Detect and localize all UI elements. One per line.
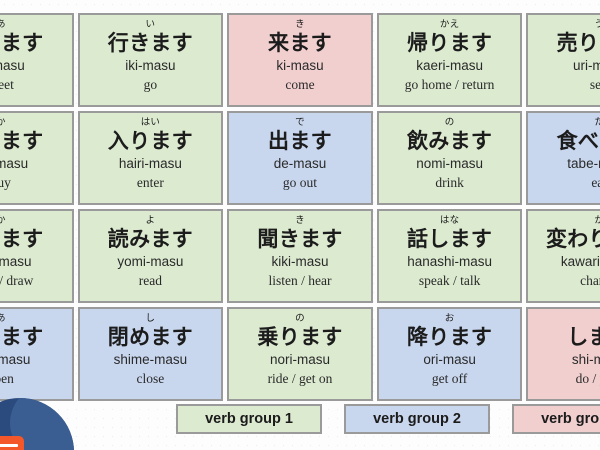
japanese-verb: 開けます [0, 325, 43, 349]
furigana: か [594, 216, 600, 227]
romaji: yomi-masu [117, 253, 183, 271]
romaji: de-masu [274, 155, 327, 173]
furigana: か [0, 216, 6, 227]
japanese-verb: 買います [0, 129, 43, 153]
english-meaning: write / draw [0, 272, 33, 289]
furigana: う [594, 20, 600, 31]
japanese-verb: 話します [407, 227, 492, 251]
verb-card[interactable]: か変わりますkawari-masuchange [526, 209, 600, 303]
english-meaning: meet [0, 76, 14, 93]
romaji: kawari-masu [561, 253, 600, 271]
logo-mark-icon [0, 436, 24, 450]
furigana: か [0, 118, 6, 129]
japanese-verb: 帰ります [407, 31, 492, 55]
verb-card[interactable]: お降りますori-masuget off [377, 307, 523, 401]
english-meaning: open [0, 370, 14, 387]
english-meaning: ride / get on [268, 370, 333, 387]
legend-item-g1[interactable]: verb group 1 [176, 404, 322, 434]
romaji: ki-masu [276, 57, 323, 75]
english-meaning: do / play [576, 370, 600, 387]
romaji: shime-masu [114, 351, 188, 369]
furigana: し [146, 314, 156, 325]
romaji: hanashi-masu [407, 253, 492, 271]
japanese-verb: 聞きます [257, 227, 342, 251]
romaji: uri-masu [573, 57, 600, 75]
legend-item-g2[interactable]: verb group 2 [344, 404, 490, 434]
japanese-verb: 降ります [407, 325, 492, 349]
furigana: あ [0, 20, 6, 31]
english-meaning: buy [0, 174, 11, 191]
verb-chart-page: あ会いますai-masumeetい行きますiki-masugoき来ますki-ma… [0, 0, 600, 450]
japanese-verb: 乗ります [257, 325, 342, 349]
romaji: tabe-masu [567, 155, 600, 173]
furigana: かえ [440, 20, 459, 31]
japanese-verb: 売ります [557, 31, 600, 55]
romaji: kaki-masu [0, 253, 32, 271]
furigana: た [594, 118, 600, 129]
legend-item-g3[interactable]: verb group 3 [512, 404, 600, 434]
furigana: い [146, 20, 156, 31]
verb-card[interactable]: かえ帰りますkaeri-masugo home / return [377, 13, 523, 107]
japanese-verb: 会います [0, 31, 43, 55]
english-meaning: drink [435, 174, 464, 191]
verb-card[interactable]: あ開けますake-masuopen [0, 307, 74, 401]
verb-card[interactable]: う売りますuri-masusell [526, 13, 600, 107]
verb-card[interactable]: はい入りますhairi-masuenter [78, 111, 224, 205]
verb-card[interactable]: か書きますkaki-masuwrite / draw [0, 209, 74, 303]
japanese-verb: 閉めます [108, 325, 193, 349]
verb-card[interactable]: の飲みますnomi-masudrink [377, 111, 523, 205]
furigana: の [445, 118, 455, 129]
japanese-verb: 行きます [108, 31, 193, 55]
english-meaning: eat [591, 174, 600, 191]
english-meaning: sell [590, 76, 600, 93]
english-meaning: change [580, 272, 600, 289]
furigana: で [295, 118, 305, 129]
romaji: kai-masu [0, 155, 28, 173]
verb-card[interactable]: い行きますiki-masugo [78, 13, 224, 107]
verb-card[interactable]: き来ますki-masucome [227, 13, 373, 107]
english-meaning: go [144, 76, 158, 93]
verb-card[interactable]: き聞きますkiki-masulisten / hear [227, 209, 373, 303]
japanese-verb: します [567, 325, 600, 349]
furigana: はな [440, 216, 459, 227]
japanese-verb: 食べます [557, 129, 600, 153]
furigana: よ [146, 216, 156, 227]
japanese-verb: 出ます [268, 129, 332, 153]
romaji: nori-masu [270, 351, 330, 369]
furigana: の [295, 314, 305, 325]
english-meaning: speak / talk [419, 272, 480, 289]
japanese-verb: 飲みます [407, 129, 492, 153]
verb-card[interactable]: で出ますde-masugo out [227, 111, 373, 205]
english-meaning: go out [283, 174, 317, 191]
app-logo[interactable] [0, 398, 74, 450]
verb-card[interactable]: しますshi-masudo / play [526, 307, 600, 401]
furigana: き [295, 20, 305, 31]
english-meaning: listen / hear [269, 272, 332, 289]
japanese-verb: 来ます [268, 31, 332, 55]
furigana: き [295, 216, 305, 227]
japanese-verb: 変わります [546, 227, 600, 251]
romaji: shi-masu [572, 351, 600, 369]
english-meaning: come [285, 76, 314, 93]
english-meaning: close [137, 370, 165, 387]
verb-card-grid: あ会いますai-masumeetい行きますiki-masugoき来ますki-ma… [0, 13, 600, 401]
english-meaning: go home / return [405, 76, 495, 93]
romaji: ori-masu [423, 351, 476, 369]
verb-card[interactable]: よ読みますyomi-masuread [78, 209, 224, 303]
japanese-verb: 入ります [108, 129, 193, 153]
english-meaning: enter [137, 174, 164, 191]
furigana: お [445, 314, 455, 325]
english-meaning: get off [432, 370, 467, 387]
romaji: hairi-masu [119, 155, 182, 173]
verb-card[interactable]: の乗りますnori-masuride / get on [227, 307, 373, 401]
verb-card[interactable]: し閉めますshime-masuclose [78, 307, 224, 401]
romaji: kaeri-masu [416, 57, 483, 75]
verb-card[interactable]: あ会いますai-masumeet [0, 13, 74, 107]
verb-card[interactable]: た食べますtabe-masueat [526, 111, 600, 205]
verb-card[interactable]: か買いますkai-masubuy [0, 111, 74, 205]
romaji: ai-masu [0, 57, 25, 75]
romaji: nomi-masu [416, 155, 483, 173]
legend: verb group 1verb group 2verb group 3 [176, 404, 600, 434]
romaji: ake-masu [0, 351, 30, 369]
verb-card[interactable]: はな話しますhanashi-masuspeak / talk [377, 209, 523, 303]
romaji: kiki-masu [271, 253, 328, 271]
english-meaning: read [139, 272, 162, 289]
furigana: はい [141, 118, 160, 129]
furigana: あ [0, 314, 6, 325]
japanese-verb: 読みます [108, 227, 193, 251]
japanese-verb: 書きます [0, 227, 43, 251]
romaji: iki-masu [125, 57, 175, 75]
